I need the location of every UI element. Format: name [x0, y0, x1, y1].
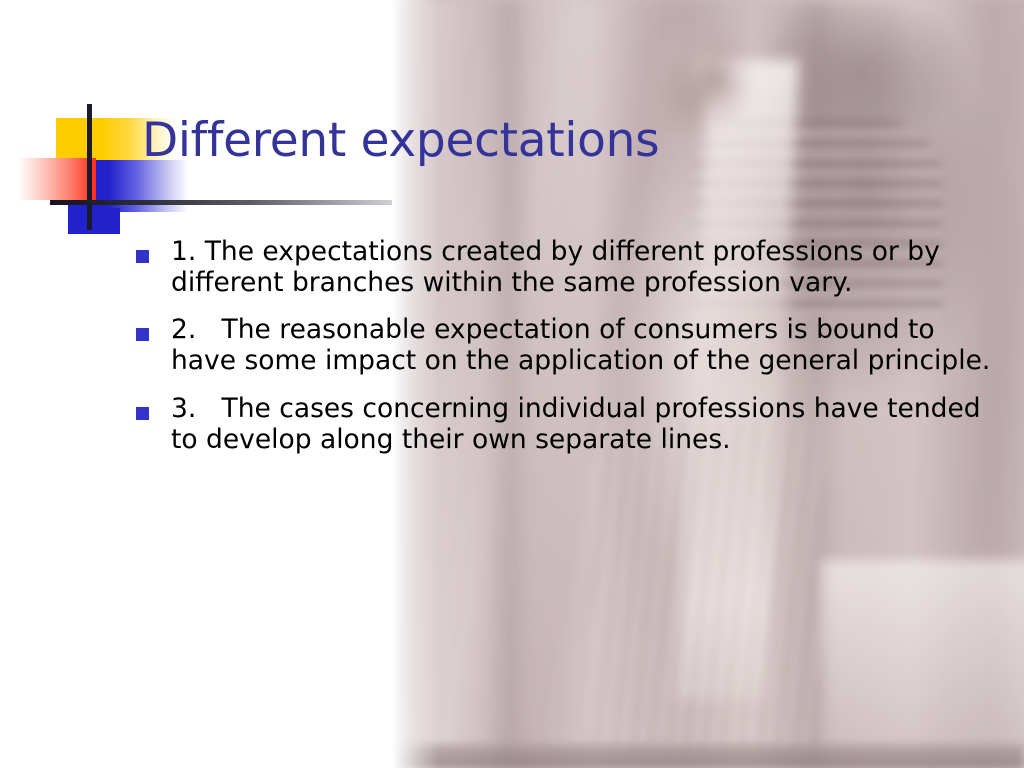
bullet-text: 2. The reasonable expectation of consume…: [171, 314, 997, 376]
bullet-text: 3. The cases concerning individual profe…: [171, 393, 997, 455]
slide-title: Different expectations: [142, 116, 659, 165]
decor-square-red: [18, 158, 96, 200]
square-bullet-icon: [136, 407, 149, 420]
list-item: 3. The cases concerning individual profe…: [136, 393, 1000, 455]
square-bullet-icon: [136, 328, 149, 341]
bullet-text: 1. The expectations created by different…: [171, 236, 997, 298]
square-bullet-icon: [136, 250, 149, 263]
presentation-slide: Different expectations 1. The expectatio…: [0, 0, 1024, 768]
list-item: 1. The expectations created by different…: [136, 236, 1000, 298]
decor-vertical-rule: [87, 104, 92, 230]
decor-horizontal-rule: [50, 200, 392, 205]
bullet-list: 1. The expectations created by different…: [136, 236, 1000, 471]
list-item: 2. The reasonable expectation of consume…: [136, 314, 1000, 376]
decor-square-blue-lower: [68, 208, 120, 234]
